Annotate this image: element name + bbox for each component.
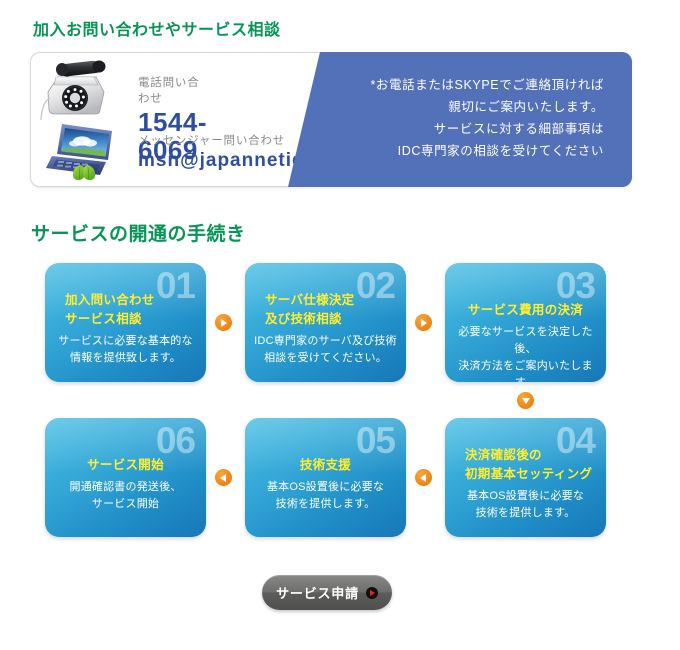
step-desc-line: サービス開始	[51, 496, 200, 513]
step-title-line: サービス相談	[65, 310, 200, 329]
step-title-line: 加入問い合わせ	[65, 291, 200, 310]
service-apply-label: サービス申請	[276, 583, 359, 602]
step-title-line: 初期基本セッティング	[465, 465, 600, 484]
step-title: サービス費用の決済	[451, 301, 600, 320]
step-title: サービス開始	[51, 456, 200, 475]
step-desc-line: IDC専門家のサーバ及び技術	[251, 333, 400, 350]
step-title-line: サービス費用の決済	[451, 301, 600, 320]
arrow-right-icon	[415, 314, 432, 331]
step-box-04[interactable]: 04 決済確認後の 初期基本セッティング 基本OS設置後に必要な 技術を提供しま…	[445, 418, 606, 537]
step-desc-line: サービスに必要な基本的な	[51, 333, 200, 350]
step-title-line: 決済確認後の	[465, 446, 600, 465]
step-title-line: 技術支援	[251, 456, 400, 475]
step-desc-line: 必要なサービスを決定した後、	[451, 324, 600, 358]
step-title: 加入問い合わせ サービス相談	[51, 291, 200, 329]
step-description: 基本OS設置後に必要な 技術を提供します。	[451, 488, 600, 522]
step-box-01[interactable]: 01 加入問い合わせ サービス相談 サービスに必要な基本的な 情報を提供致します…	[45, 263, 206, 382]
service-apply-button[interactable]: サービス申請	[262, 575, 392, 610]
step-desc-line: 相談を受けてください。	[251, 350, 400, 367]
step-desc-line: 技術を提供します。	[451, 505, 600, 522]
step-description: サービスに必要な基本的な 情報を提供致します。	[51, 333, 200, 367]
step-title-line: サービス開始	[51, 456, 200, 475]
step-title-line: サーバ仕様決定	[265, 291, 400, 310]
step-box-05[interactable]: 05 技術支援 基本OS設置後に必要な 技術を提供します。	[245, 418, 406, 537]
step-box-03[interactable]: 03 サービス費用の決済 必要なサービスを決定した後、 決済方法をご案内いたしま…	[445, 263, 606, 382]
step-title-line: 及び技術相談	[265, 310, 400, 329]
step-description: IDC専門家のサーバ及び技術 相談を受けてください。	[251, 333, 400, 367]
step-title: 決済確認後の 初期基本セッティング	[451, 446, 600, 484]
step-box-02[interactable]: 02 サーバ仕様決定 及び技術相談 IDC専門家のサーバ及び技術 相談を受けてく…	[245, 263, 406, 382]
step-desc-line: 基本OS設置後に必要な	[451, 488, 600, 505]
step-desc-line: 技術を提供します。	[251, 496, 400, 513]
play-arrow-icon	[366, 587, 378, 599]
step-title: 技術支援	[251, 456, 400, 475]
step-desc-line: 情報を提供致します。	[51, 350, 200, 367]
step-description: 基本OS設置後に必要な 技術を提供します。	[251, 479, 400, 513]
step-desc-line: 決済方法をご案内いたします。	[451, 358, 600, 382]
step-description: 必要なサービスを決定した後、 決済方法をご案内いたします。	[451, 324, 600, 382]
step-title: サーバ仕様決定 及び技術相談	[251, 291, 400, 329]
steps-flow: 01 加入問い合わせ サービス相談 サービスに必要な基本的な 情報を提供致します…	[0, 0, 680, 300]
step-desc-line: 開通確認書の発送後、	[51, 479, 200, 496]
step-box-06[interactable]: 06 サービス開始 開通確認書の発送後、 サービス開始	[45, 418, 206, 537]
arrow-left-icon	[415, 469, 432, 486]
step-description: 開通確認書の発送後、 サービス開始	[51, 479, 200, 513]
arrow-left-icon	[215, 469, 232, 486]
step-desc-line: 基本OS設置後に必要な	[251, 479, 400, 496]
arrow-down-icon	[517, 392, 534, 409]
arrow-right-icon	[215, 314, 232, 331]
